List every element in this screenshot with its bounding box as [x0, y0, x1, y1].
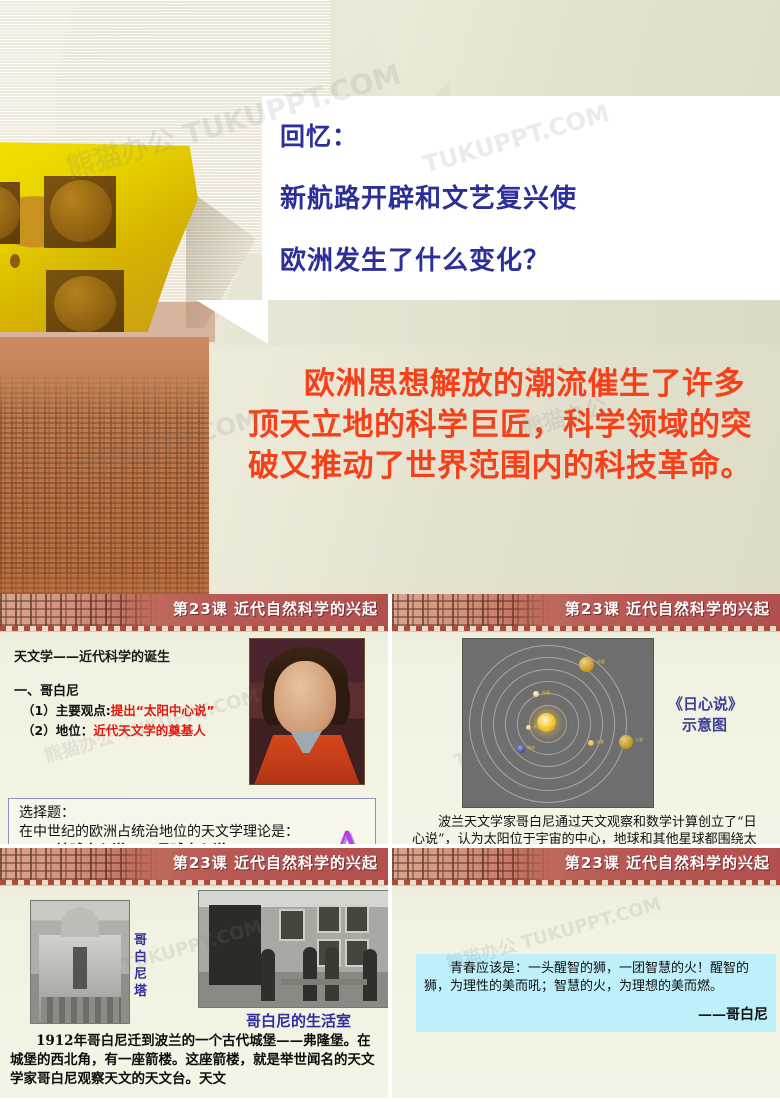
slide-3-body: 哥白尼塔 哥白尼的生活室 1912年哥白尼迁到波兰的一个古代城堡——弗隆堡。在城… — [0, 886, 388, 1098]
slide-1-point-1: （1）主要观点:提出“太阳中心说” — [22, 700, 215, 719]
question-title: 选择题： — [19, 802, 75, 822]
slide-4-quote-box: 青春应该是：一头醒智的狮，一团智慧的火！醒智的狮，为理性的美而吼；智慧的火，为理… — [416, 954, 776, 1032]
heliocentric-diagram-image: 木星 金星 水星 地球 火星 土星 — [462, 638, 654, 808]
slide-1-section-title: 一、哥白尼 — [14, 680, 79, 699]
recall-textbox: 回忆： 新航路开辟和文艺复兴使 欧洲发生了什么变化？ — [262, 96, 780, 300]
slide-3-photo1-label: 哥白尼塔 — [134, 932, 148, 1000]
slide-2-body: 木星 金星 水星 地球 火星 土星 《日心说》 示意图 波兰天文学 — [392, 632, 780, 844]
slide-1-point-2-value: 近代天文学的奠基人 — [93, 723, 206, 738]
slide-3[interactable]: 第23课 近代自然科学的兴起 — [0, 848, 388, 1098]
planet-venus — [533, 691, 539, 697]
planet-label-earth: 地球 — [527, 745, 535, 751]
slide-1-point-1-value: 提出“太阳中心说” — [111, 703, 215, 718]
slide-4-body: 青春应该是：一头醒智的狮，一团智慧的火！醒智的狮，为理性的美而吼；智慧的火，为理… — [392, 886, 780, 1098]
slide-4[interactable]: 第23课 近代自然科学的兴起 青春应该是：一头醒智的狮，一团智慧的火！醒智的狮，… — [392, 848, 780, 1098]
planet-label-venus: 金星 — [542, 690, 550, 696]
slide-3-banner: 第23课 近代自然科学的兴起 — [0, 848, 388, 880]
planet-label-mars: 火星 — [596, 739, 604, 745]
slide-3-photo2-label: 哥白尼的生活室 — [246, 1010, 351, 1031]
copernicus-living-room-photo — [198, 890, 388, 1008]
calligraphy-texture — [0, 848, 160, 880]
quote-body: 青春应该是：一头醒智的狮，一团智慧的火！醒智的狮，为理性的美而吼；智慧的火，为理… — [424, 960, 768, 996]
planet-jupiter — [579, 657, 594, 672]
presentation-page: 回忆： 新航路开辟和文艺复兴使 欧洲发生了什么变化？ 欧洲思想解放的潮流催生了许… — [0, 0, 780, 1102]
hero-slide: 回忆： 新航路开辟和文艺复兴使 欧洲发生了什么变化？ 欧洲思想解放的潮流催生了许… — [0, 0, 780, 594]
planet-mercury — [526, 725, 531, 730]
slide-1-body: 天文学——近代科学的诞生 一、哥白尼 （1）主要观点:提出“太阳中心说” （2）… — [0, 632, 388, 844]
recall-line-1: 回忆： — [280, 106, 780, 168]
manuscript-ink-lines — [0, 369, 209, 594]
copernicus-tower-photo — [30, 900, 130, 1024]
planet-label-jupiter: 木星 — [597, 659, 605, 665]
slide-1-banner: 第23课 近代自然科学的兴起 — [0, 594, 388, 626]
planet-label-mercury: 水星 — [533, 724, 541, 730]
slide-2-banner: 第23课 近代自然科学的兴起 — [392, 594, 780, 626]
planet-label-saturn: 土星 — [635, 737, 643, 743]
slide-1-point-1-label: （1）主要观点: — [22, 703, 111, 718]
recall-line-2: 新航路开辟和文艺复兴使 — [280, 168, 780, 230]
slide-2-banner-title: 第23课 近代自然科学的兴起 — [565, 598, 770, 619]
diagram-caption-line-2: 示意图 — [668, 715, 772, 736]
question-options-row-1: A、地球中心说 B、月球中心说 — [31, 840, 227, 844]
question-stem: 在中世纪的欧洲占统治地位的天文学理论是： — [19, 821, 299, 841]
slide-2[interactable]: 第23课 近代自然科学的兴起 木星 金星 水星 — [392, 594, 780, 844]
planet-mars — [588, 740, 594, 746]
diagram-caption-line-1: 《日心说》 — [668, 694, 772, 715]
recall-line-3: 欧洲发生了什么变化？ — [280, 230, 780, 292]
calligraphy-texture — [0, 594, 160, 626]
slide-2-paragraph: 波兰天文学家哥白尼通过天文观察和数学计算创立了“日心说”，认为太阳位于宇宙的中心… — [412, 814, 762, 844]
slide-thumbnail-grid: 第23课 近代自然科学的兴起 天文学——近代科学的诞生 一、哥白尼 （1）主要观… — [0, 594, 780, 1102]
slide-1-question-box: 选择题： 在中世纪的欧洲占统治地位的天文学理论是： A、地球中心说 B、月球中心… — [8, 798, 376, 844]
question-answer: A — [331, 827, 363, 844]
slide-3-banner-title: 第23课 近代自然科学的兴起 — [173, 852, 378, 873]
manuscript-texture-panel — [0, 337, 209, 594]
slide-1-point-2-label: （2）地位： — [22, 723, 93, 738]
slide-3-paragraph: 1912年哥白尼迁到波兰的一个古代城堡——弗隆堡。在城堡的西北角，有一座箭楼。这… — [10, 1032, 382, 1089]
planet-earth — [517, 745, 525, 753]
slide-1-heading: 天文学——近代科学的诞生 — [14, 646, 170, 665]
slide-4-banner-title: 第23课 近代自然科学的兴起 — [565, 852, 770, 873]
planet-saturn — [619, 735, 633, 749]
quote-source: ——哥白尼 — [424, 1004, 768, 1024]
slide-1-banner-title: 第23课 近代自然科学的兴起 — [173, 598, 378, 619]
calligraphy-texture — [392, 594, 552, 626]
slide-1[interactable]: 第23课 近代自然科学的兴起 天文学——近代科学的诞生 一、哥白尼 （1）主要观… — [0, 594, 388, 844]
hero-red-paragraph: 欧洲思想解放的潮流催生了许多顶天立地的科学巨匠，科学领域的突破又推动了世界范围内… — [248, 364, 768, 487]
slide-4-banner: 第23课 近代自然科学的兴起 — [392, 848, 780, 880]
slide-2-diagram-caption: 《日心说》 示意图 — [668, 694, 772, 736]
slide-1-point-2: （2）地位：近代天文学的奠基人 — [22, 720, 206, 739]
calligraphy-texture — [392, 848, 552, 880]
copernicus-portrait-image — [249, 638, 365, 785]
